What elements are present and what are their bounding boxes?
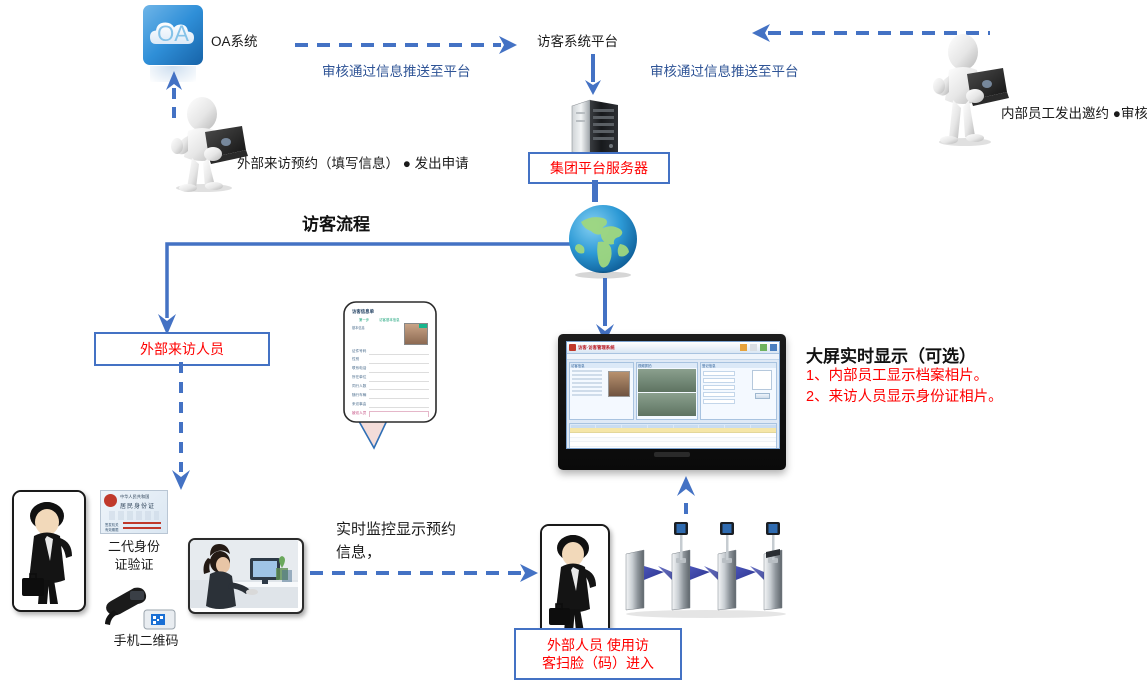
visitor-form-header: 访客信息单: [352, 309, 431, 316]
monitor-app-logo: [569, 344, 576, 351]
entry-method-line-2: 客扫脸（码）进入: [542, 654, 654, 672]
id-card-image: 中华人民共和国 居民身份证 签发机关 有效期限: [100, 490, 168, 534]
monitor-stand: [654, 452, 690, 457]
id-card-caption-line-1: 二代身份: [99, 538, 169, 556]
qr-scanner-icon: [100, 584, 184, 632]
connector-server-to-globe: [592, 180, 598, 202]
monitor-panel-3-title: 登记信息: [701, 363, 776, 368]
bigscreen-line-2: 2、来访人员显示身份证相片。: [806, 387, 1003, 408]
qr-code-caption: 手机二维码: [104, 632, 188, 650]
visitor-form-photo: [404, 323, 428, 345]
monitor-app-title: 访客·访客管理系统: [578, 345, 615, 351]
server-label-box: 集团平台服务器: [528, 152, 670, 184]
external-visitor-label: 外部来访预约（填写信息） ● 发出申请: [237, 155, 469, 173]
id-card-caption-line-2: 证验证: [99, 556, 169, 574]
monitor-records-table: [569, 423, 777, 449]
oa-system-icon: OA: [142, 4, 204, 66]
monitor-screen: 访客·访客管理系统 访客信息: [566, 341, 780, 449]
visitor-form-screen: 访客信息单 第一步 访客基本信息 基本信息 证件号码 性别 联系电话 所在单位 …: [349, 307, 431, 417]
bigscreen-title: 大屏实时显示（可选）: [806, 342, 976, 367]
page-title: 访客流程: [302, 210, 370, 235]
server-label-text: 集团平台服务器: [550, 159, 648, 177]
internal-employee-avatar: [925, 30, 1011, 146]
monitor-archive-photo: [608, 371, 630, 397]
visitor-person-photo-right: [540, 524, 610, 640]
arrow-platform-to-server: [582, 54, 604, 96]
entry-method-line-1: 外部人员 使用访: [547, 636, 649, 654]
diagram-canvas: OA OA系统 审核通过信息推送至平台 访客系统平台: [0, 0, 1147, 692]
bigscreen-line-1: 1、内部员工显示档案相片。: [806, 366, 988, 387]
monitor-capture-1: [638, 369, 696, 392]
visitor-platform-label: 访客系统平台: [537, 33, 618, 51]
visitor-form-tab-1: 第一步: [359, 318, 369, 323]
id-card-caption: 二代身份 证验证: [99, 538, 169, 573]
monitor-panel-2-title: 视频抓拍: [637, 363, 697, 368]
arrow-visitor-to-oa: [163, 66, 185, 118]
visitor-person-photo-left: [12, 490, 86, 612]
monitor-display-label-1: 实时监控显示预约: [336, 520, 456, 540]
arrow-push-to-platform-left: [295, 32, 525, 58]
arrow-reception-to-gate: [310, 560, 545, 586]
monitor-panel-1-title: 访客信息: [570, 363, 633, 368]
oa-system-label: OA系统: [211, 33, 258, 51]
visitor-form-tab-2: 访客基本信息: [379, 318, 399, 323]
globe-internet-icon: [565, 202, 643, 280]
big-screen-monitor: 访客·访客管理系统 访客信息: [558, 334, 786, 470]
monitor-capture-2: [638, 393, 696, 416]
arrow-visitor-box-to-idcard: [170, 362, 192, 492]
visitor-form-callout: 访客信息单 第一步 访客基本信息 基本信息 证件号码 性别 联系电话 所在单位 …: [330, 296, 458, 454]
external-visitor-box: 外部来访人员: [94, 332, 270, 366]
oa-icon-text: OA: [157, 21, 189, 46]
edge-label-push-left: 审核通过信息推送至平台: [322, 60, 471, 80]
internal-employee-label: 内部员工发出邀约 ●审核: [1001, 105, 1147, 123]
server-tower-icon: [566, 96, 624, 158]
turnstile-gates-icon: [618, 522, 800, 622]
reception-desk-photo: [188, 538, 304, 614]
external-visitor-box-text: 外部来访人员: [140, 340, 224, 358]
entry-method-box: 外部人员 使用访 客扫脸（码）进入: [514, 628, 682, 680]
edge-label-push-right: 审核通过信息推送至平台: [650, 60, 799, 80]
